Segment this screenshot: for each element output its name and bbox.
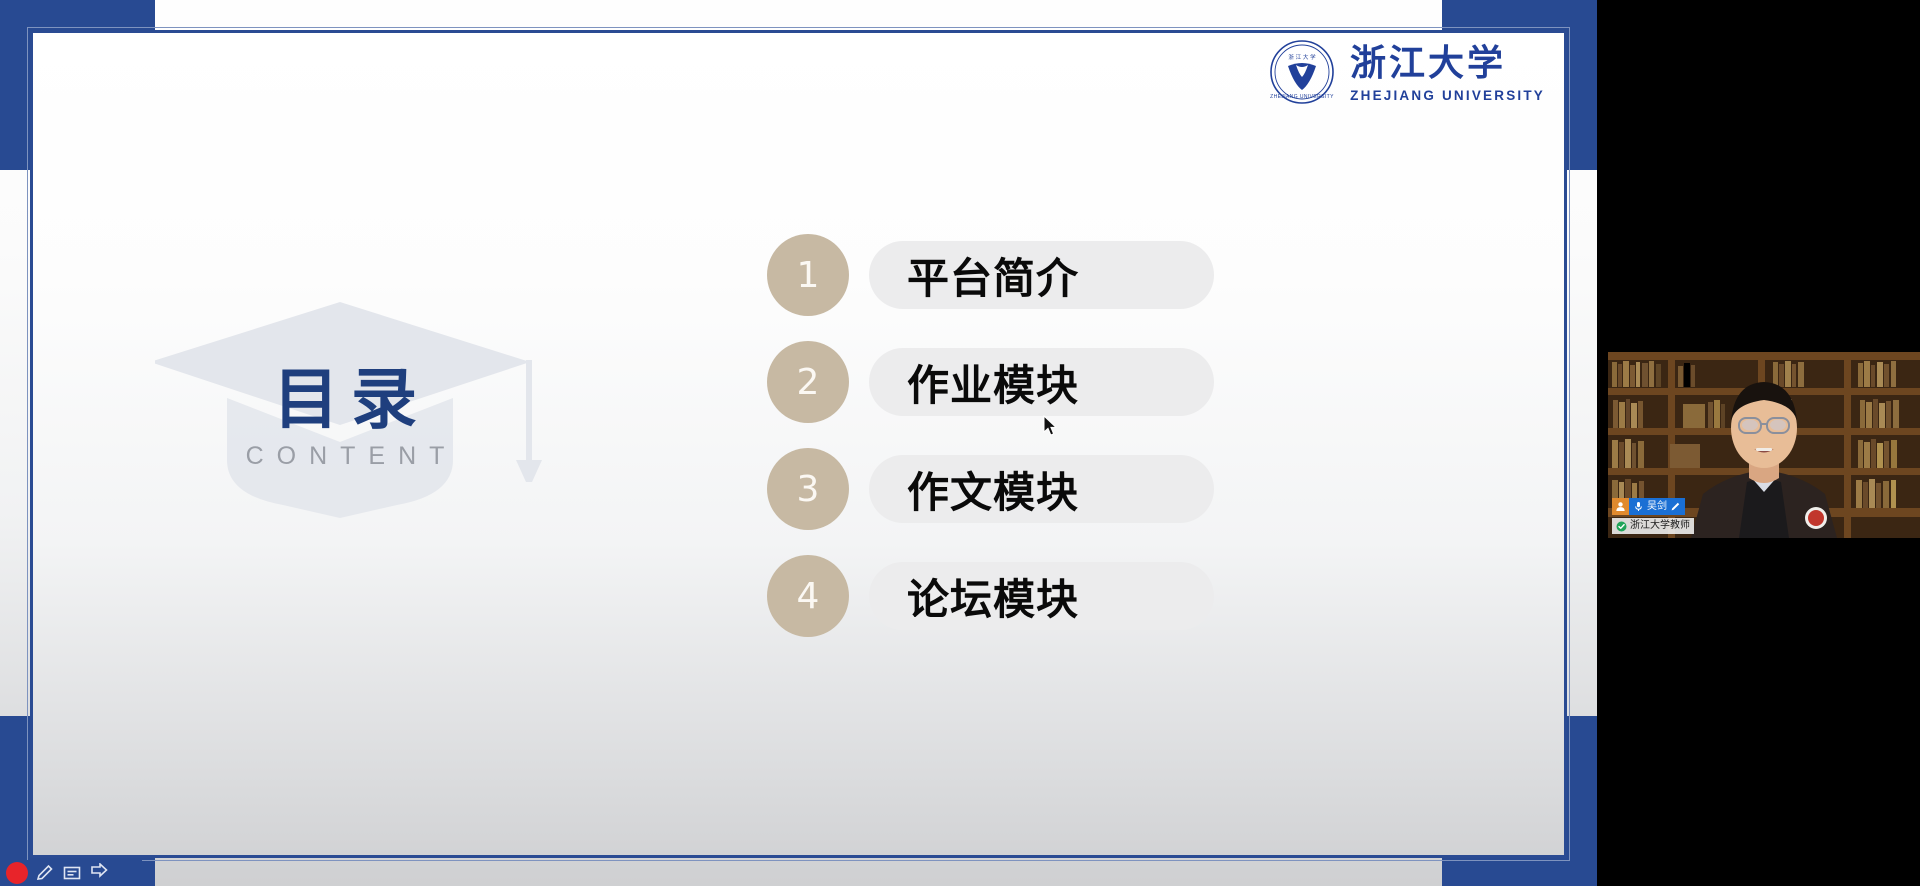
content-title-en: CONTENT: [155, 442, 535, 471]
zju-english-name: ZHEJIANG UNIVERSITY: [1350, 88, 1545, 103]
screen-share-view: 浙 江 大 学 ZHEJIANG UNIVERSITY 浙江大学 ZHEJIAN…: [0, 0, 1920, 886]
list-item[interactable]: 3 作文模块: [767, 448, 1214, 530]
svg-text:ZHEJIANG UNIVERSITY: ZHEJIANG UNIVERSITY: [1270, 94, 1334, 100]
list-item-label: 作文模块: [907, 459, 1079, 520]
pencil-icon[interactable]: [35, 863, 55, 883]
list-item-number: 4: [767, 555, 849, 637]
microphone-icon: [1633, 501, 1644, 512]
content-title-cn: 目录: [155, 346, 535, 442]
zju-seal-icon: 浙 江 大 学 ZHEJIANG UNIVERSITY: [1268, 38, 1336, 106]
video-side-panel: 吴剑 浙江大学教师: [1597, 0, 1920, 886]
list-item-number: 2: [767, 341, 849, 423]
mouse-pointer-icon: [1043, 415, 1059, 437]
list-item-number: 1: [767, 234, 849, 316]
record-dot-icon[interactable]: [6, 862, 28, 884]
list-item-number: 3: [767, 448, 849, 530]
pencil-icon[interactable]: [1670, 501, 1681, 512]
participant-mic-name-badge: 吴剑: [1629, 498, 1685, 515]
participant-video-tile[interactable]: 吴剑 浙江大学教师: [1608, 352, 1920, 538]
list-item-label: 平台简介: [907, 245, 1079, 306]
list-item-pill[interactable]: 作业模块: [869, 348, 1214, 416]
list-item[interactable]: 1 平台简介: [767, 234, 1214, 316]
svg-text:浙江大学: 浙江大学: [1350, 42, 1506, 84]
text-box-icon[interactable]: [62, 863, 82, 883]
list-item-pill[interactable]: 论坛模块: [869, 562, 1214, 630]
content-list: 1 平台简介 2 作业模块 3 作文模块 4 论坛模块: [767, 234, 1214, 637]
participant-name: 吴剑: [1647, 502, 1667, 512]
content-heading-block: 目录 CONTENT: [155, 290, 615, 555]
annotation-toolbar[interactable]: [0, 860, 142, 886]
zju-chinese-name-icon: 浙江大学: [1350, 41, 1518, 85]
list-item-label: 作业模块: [907, 352, 1079, 413]
zju-wordmark: 浙江大学 ZHEJIANG UNIVERSITY: [1350, 41, 1545, 103]
verified-check-icon: [1616, 521, 1627, 532]
arrow-pointer-icon[interactable]: [89, 863, 109, 883]
list-item-pill[interactable]: 平台简介: [869, 241, 1214, 309]
participant-name-badge: 吴剑: [1612, 498, 1685, 515]
svg-text:浙 江 大 学: 浙 江 大 学: [1289, 53, 1317, 61]
list-item[interactable]: 4 论坛模块: [767, 555, 1214, 637]
presentation-slide[interactable]: 浙 江 大 学 ZHEJIANG UNIVERSITY 浙江大学 ZHEJIAN…: [0, 0, 1597, 886]
list-item-label: 论坛模块: [907, 566, 1079, 627]
participant-role-badge: 浙江大学教师: [1612, 518, 1694, 534]
zhejiang-university-logo: 浙 江 大 学 ZHEJIANG UNIVERSITY 浙江大学 ZHEJIAN…: [1268, 38, 1545, 106]
list-item[interactable]: 2 作业模块: [767, 341, 1214, 423]
participant-role: 浙江大学教师: [1630, 521, 1690, 531]
list-item-pill[interactable]: 作文模块: [869, 455, 1214, 523]
person-icon: [1612, 498, 1629, 515]
